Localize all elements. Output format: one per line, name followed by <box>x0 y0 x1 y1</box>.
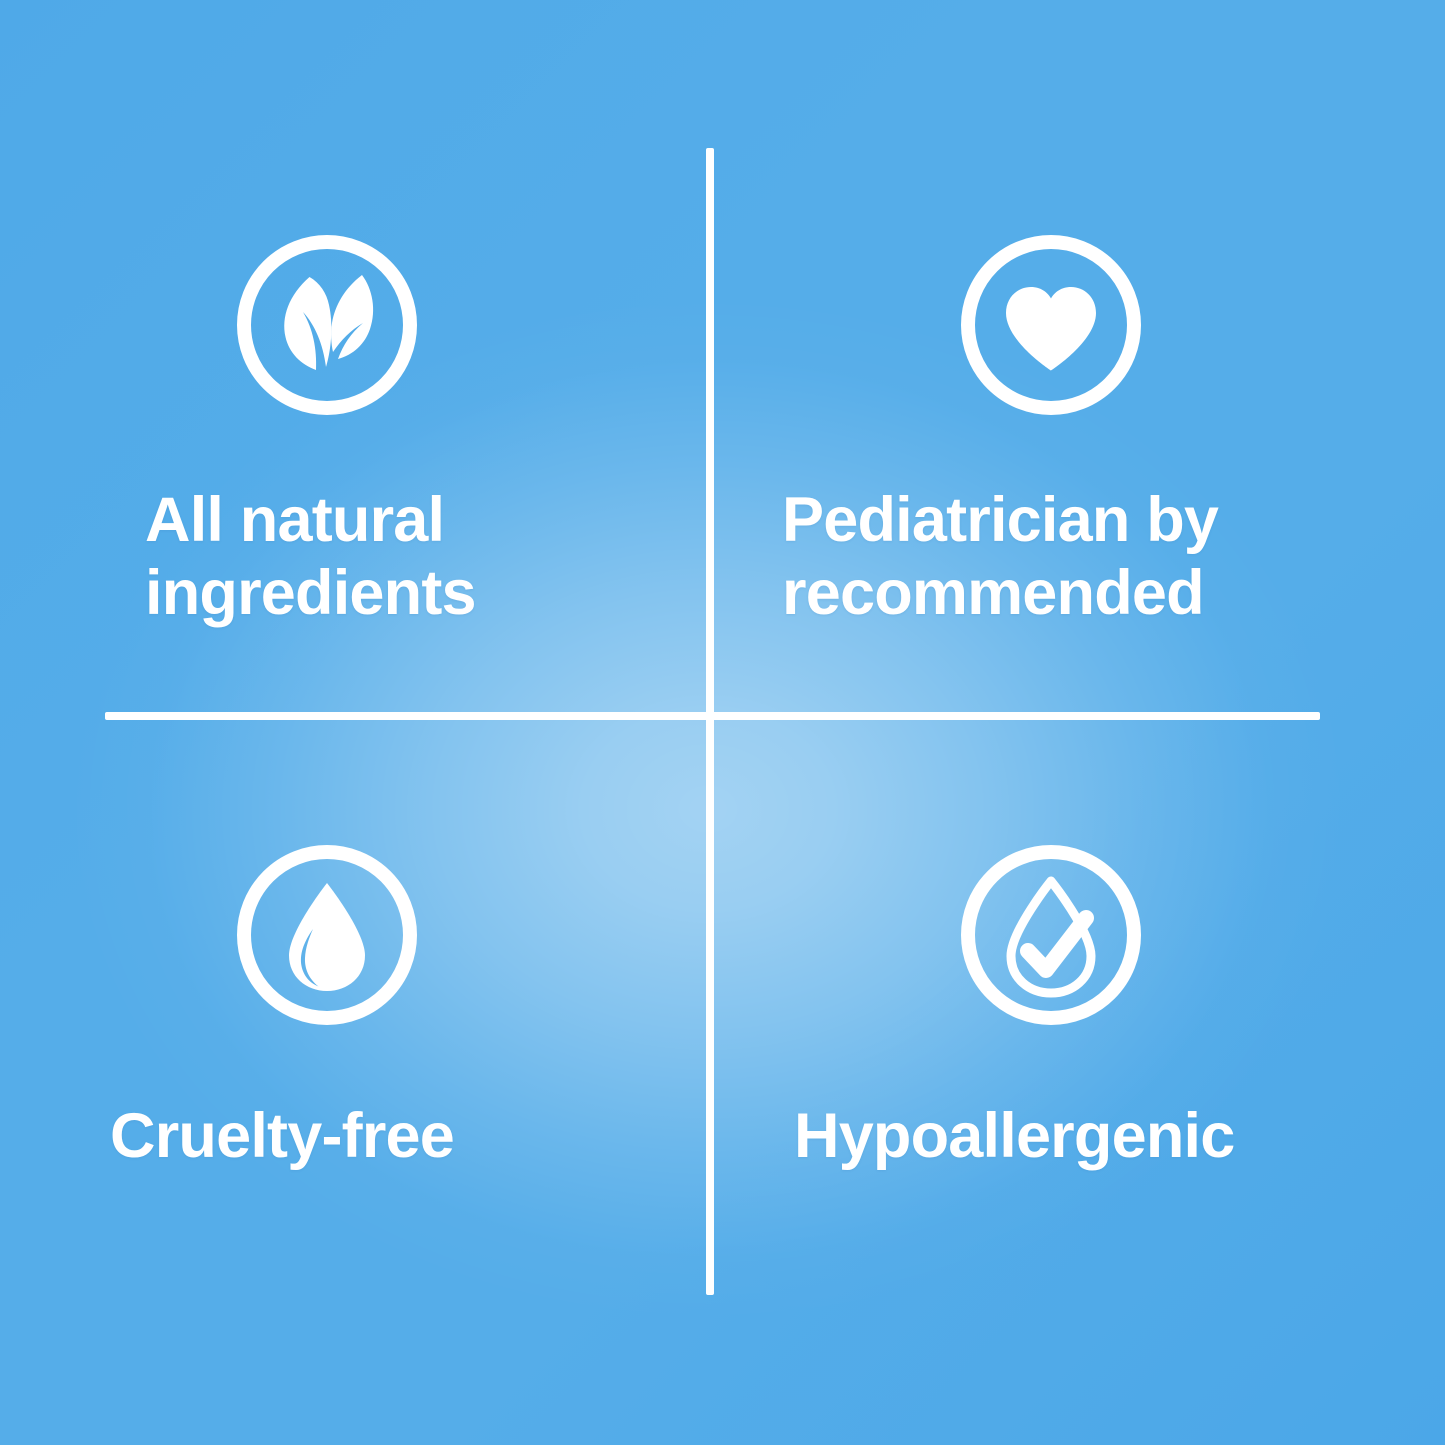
feature-all-natural-ingredients: All natural ingredients <box>0 0 710 716</box>
feature-label: Cruelty-free <box>110 1100 454 1173</box>
heart-icon <box>955 229 1147 421</box>
water-drop-check-icon <box>955 839 1147 1031</box>
feature-cruelty-free: Cruelty-free <box>0 720 710 1445</box>
feature-label: Hypoallergenic <box>794 1100 1234 1173</box>
feature-label: Pediatrician by recommended <box>782 484 1218 630</box>
feature-pediatrician-recommended: Pediatrician by recommended <box>712 0 1445 716</box>
leaf-icon <box>231 229 423 421</box>
feature-badge-board: All natural ingredients Pediatrician by … <box>0 0 1445 1445</box>
feature-label: All natural ingredients <box>145 484 476 630</box>
feature-hypoallergenic: Hypoallergenic <box>712 720 1445 1445</box>
water-drop-icon <box>231 839 423 1031</box>
